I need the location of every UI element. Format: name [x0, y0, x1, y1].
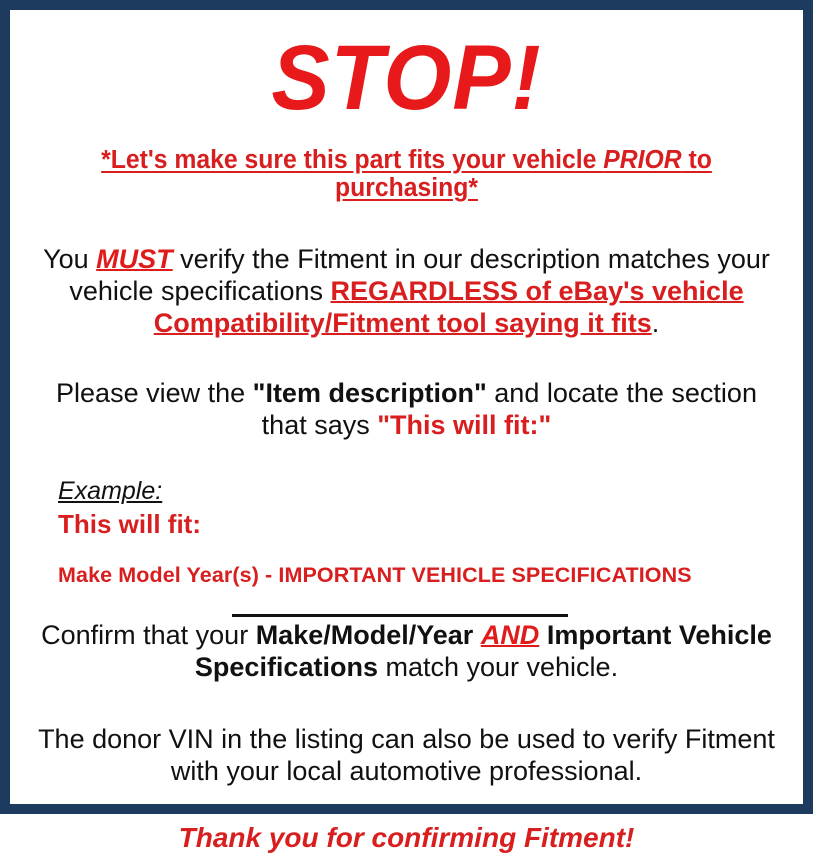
example-vehicle-spec-line: Make Model Year(s) - IMPORTANT VEHICLE S… — [58, 563, 781, 589]
example-label: Example: — [58, 477, 781, 506]
view-text-part1: Please view the — [56, 378, 253, 408]
emphasis-and: AND — [481, 620, 540, 650]
verify-text-part1: You — [43, 244, 96, 274]
emphasis-item-description: "Item description" — [253, 378, 487, 408]
paragraph-donor-vin: The donor VIN in the listing can also be… — [32, 724, 781, 788]
paragraph-confirm-match: Confirm that your Make/Model/Year AND Im… — [32, 620, 781, 684]
page-title: STOP! — [51, 32, 763, 124]
emphasis-make-model-year: Make/Model/Year — [256, 620, 474, 650]
paragraph-verify-fitment: You MUST verify the Fitment in our descr… — [32, 244, 781, 340]
confirm-space-2 — [539, 620, 547, 650]
subtitle-banner: *Let's make sure this part fits your veh… — [43, 146, 770, 202]
subtitle-lead-text: *Let's make sure this part fits your veh… — [101, 146, 603, 174]
fitment-notice-card: STOP! *Let's make sure this part fits yo… — [0, 0, 813, 814]
emphasis-must: MUST — [96, 244, 173, 274]
paragraph-view-description: Please view the "Item description" and l… — [32, 378, 781, 442]
verify-text-part3: . — [652, 308, 660, 338]
confirm-text-part1: Confirm that your — [41, 620, 256, 650]
divider-rule — [232, 614, 568, 617]
emphasis-this-will-fit: "This will fit:" — [377, 410, 551, 440]
example-this-will-fit-heading: This will fit: — [58, 508, 781, 541]
thank-you-message: Thank you for confirming Fitment! — [32, 822, 781, 854]
confirm-space-1 — [473, 620, 481, 650]
confirm-text-part2: match your vehicle. — [378, 652, 618, 682]
example-block: Example: This will fit: Make Model Year(… — [32, 477, 781, 588]
subtitle-emphasis-prior: PRIOR — [603, 146, 681, 174]
